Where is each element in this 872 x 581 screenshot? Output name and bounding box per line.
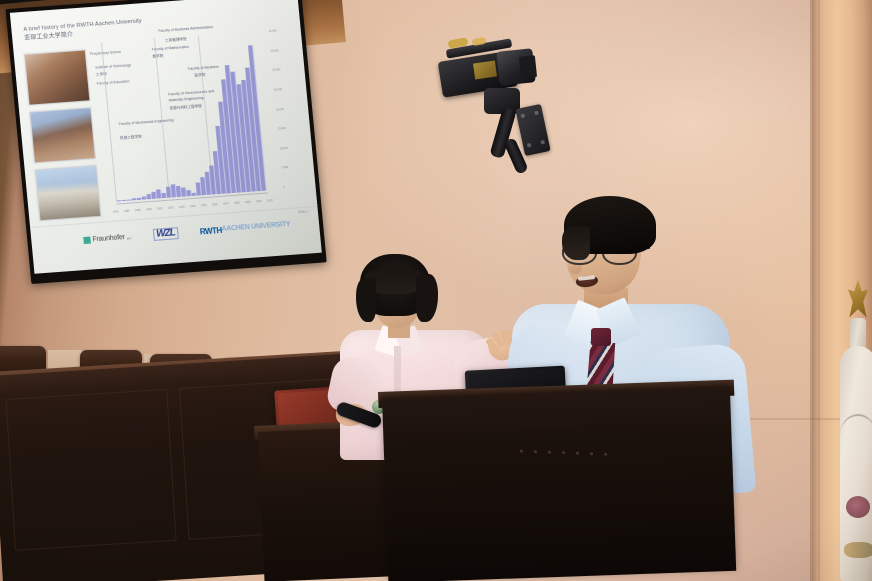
- slide-photo-modern-building: [35, 165, 102, 221]
- slide-content: A brief history of the RWTH Aachen Unive…: [10, 0, 322, 274]
- dais-panel-section: [5, 389, 176, 551]
- camera-accent: [473, 61, 497, 80]
- podium-stud: [534, 450, 537, 453]
- plate-hole-icon: [540, 140, 545, 145]
- chart-x-tick: 1990: [245, 201, 251, 204]
- screen-surface: A brief history of the RWTH Aachen Unive…: [10, 0, 322, 274]
- chart-y-tick-labels: 05,00010,00015,00020,00025,00030,00035,0…: [269, 28, 306, 189]
- fraunhofer-logo: Fraunhofer IPT: [83, 233, 131, 243]
- podium-stud: [576, 452, 579, 455]
- slide-photo-brick-building: [29, 107, 96, 163]
- projection-screen: A brief history of the RWTH Aachen Unive…: [0, 0, 341, 293]
- chart-x-tick: 1880: [124, 210, 130, 213]
- chart-y-tick: 35,000: [270, 48, 292, 53]
- podium-stud: [548, 451, 551, 454]
- podium-stud: [590, 452, 593, 455]
- chart-y-tick: 15,000: [278, 126, 300, 131]
- slide-logo-row: Fraunhofer IPT WZL RWTH AACHEN UNIVERSIT…: [83, 219, 291, 246]
- slide-chart: 1870188018901900191019201930194019501960…: [100, 20, 285, 215]
- speaker-tie-knot: [591, 328, 611, 346]
- podium-stud: [604, 453, 607, 456]
- rwth-logo: RWTH AACHEN UNIVERSITY: [199, 220, 290, 236]
- decorative-vase: [838, 244, 872, 581]
- chart-x-tick: 1930: [179, 206, 185, 209]
- wall-mounted-camera-icon: [424, 36, 574, 191]
- chart-x-tick: 2000: [256, 200, 262, 203]
- wall-seam: [818, 0, 820, 581]
- rwth-wordmark: RWTH: [199, 225, 222, 236]
- plate-hole-icon: [520, 113, 525, 118]
- slide-photo-historic-building: [24, 49, 91, 105]
- chart-plot-area: [101, 31, 267, 201]
- speaker-hair-fade: [562, 226, 590, 260]
- plate-hole-icon: [527, 143, 532, 148]
- chart-y-tick: 25,000: [274, 87, 296, 92]
- chart-x-tick: 1910: [157, 207, 163, 210]
- fraunhofer-wordmark: Fraunhofer: [92, 234, 125, 243]
- photo-scene: A brief history of the RWTH Aachen Unive…: [0, 0, 872, 581]
- slide-photo-column: [24, 50, 100, 228]
- chart-x-tick: 1950: [201, 204, 207, 207]
- chart-y-tick: 10,000: [280, 146, 302, 151]
- camera-lens-hood: [519, 55, 537, 79]
- chart-x-tick: 1920: [168, 206, 174, 209]
- chart-x-tick: 1870: [113, 210, 119, 213]
- chart-x-tick: 1980: [234, 202, 240, 205]
- assistant-side-hair-right: [416, 274, 438, 322]
- vase-motif: [846, 496, 870, 518]
- slide-number: Slide 2: [298, 210, 308, 215]
- camera-wall-plate: [515, 104, 550, 156]
- chart-y-tick: 40,000: [269, 28, 291, 33]
- podium-body: [382, 386, 736, 581]
- chart-x-tick: 1940: [190, 205, 196, 208]
- chart-y-tick: 30,000: [272, 67, 294, 72]
- chart-bars: [102, 31, 267, 201]
- fraunhofer-mark-icon: [83, 236, 91, 243]
- wzl-logo: WZL: [153, 227, 179, 241]
- vase-swirl-detail: [840, 414, 872, 456]
- chart-y-tick: 20,000: [276, 107, 298, 112]
- chart-y-tick: 0: [283, 185, 305, 190]
- chart-x-tick: 1890: [135, 209, 141, 212]
- assistant-side-hair-left: [356, 278, 376, 322]
- chart-x-tick: 1960: [212, 203, 218, 206]
- vase-body: [840, 346, 872, 581]
- podium-stud: [520, 450, 523, 453]
- chart-y-tick: 5,000: [282, 165, 304, 170]
- plate-hole-icon: [534, 111, 539, 116]
- podium-stud: [562, 451, 565, 454]
- vase-motif: [844, 542, 872, 558]
- chart-x-tick: 1970: [223, 202, 229, 205]
- chart-x-tick: 2010: [267, 199, 273, 202]
- chart-x-tick: 1900: [146, 208, 152, 211]
- fraunhofer-institute-code: IPT: [127, 236, 132, 240]
- rwth-subtitle: AACHEN UNIVERSITY: [221, 222, 290, 233]
